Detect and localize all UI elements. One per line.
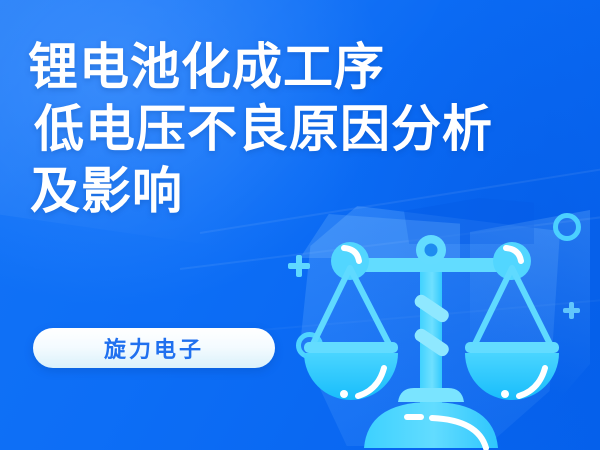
scale-base-top	[398, 388, 464, 402]
scale-pan-left-rim	[304, 342, 398, 353]
scale-pan-left-dot	[340, 390, 348, 398]
title-line-2: 低电压不良原因分析	[34, 98, 493, 160]
balance-scales-illustration	[300, 198, 570, 450]
title-line-1: 锂电池化成工序	[28, 36, 493, 98]
scale-base	[364, 402, 498, 448]
scale-pan-right-dot	[501, 390, 509, 398]
scale-pan-right-rim	[465, 342, 559, 353]
brand-pill-label: 旋力电子	[104, 332, 204, 364]
scale-base-dash	[404, 414, 424, 420]
scale-pivot-hole	[425, 244, 438, 257]
poster-canvas: 锂电池化成工序 低电压不良原因分析 及影响 旋力电子	[0, 0, 600, 450]
page-title: 锂电池化成工序 低电压不良原因分析 及影响	[28, 36, 493, 222]
brand-pill[interactable]: 旋力电子	[33, 328, 275, 368]
